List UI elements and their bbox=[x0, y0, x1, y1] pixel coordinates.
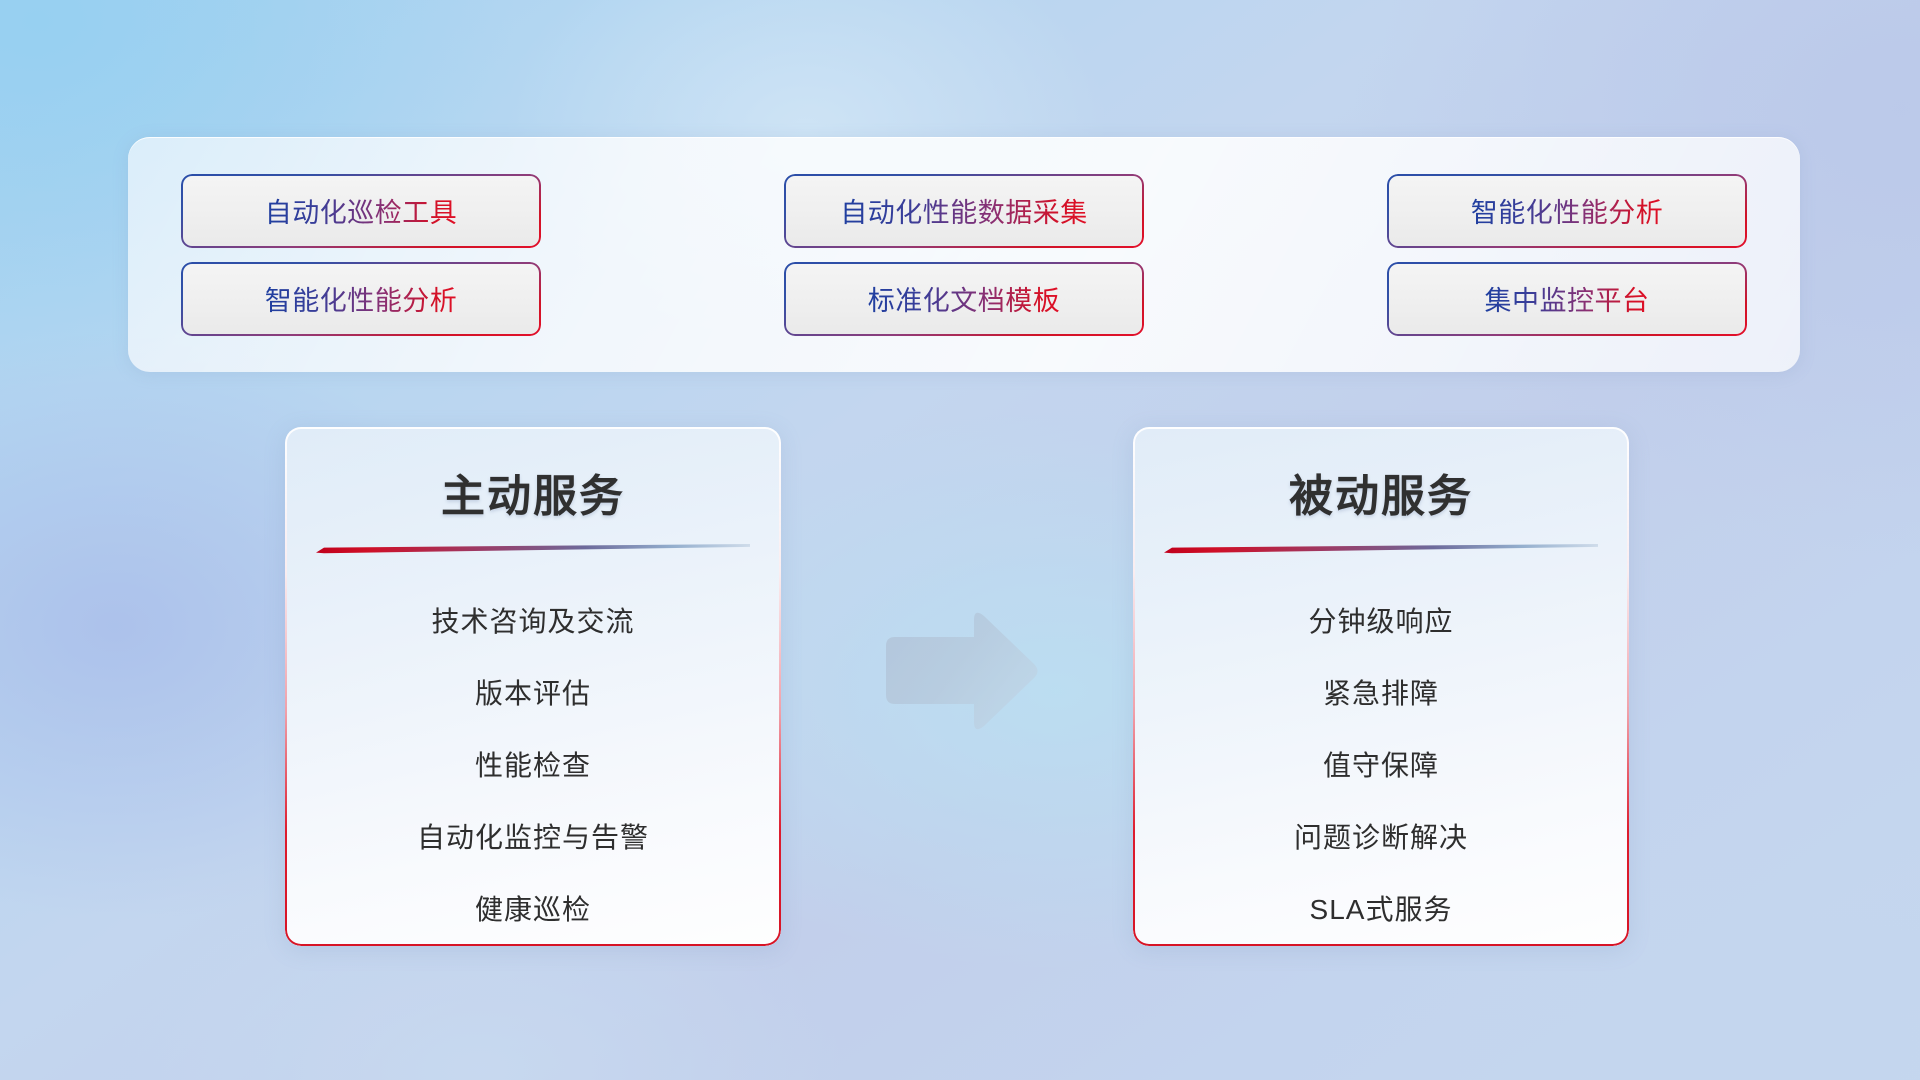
capabilities-row-1: 自动化巡检工具 自动化性能数据采集 智能化性能分析 bbox=[183, 176, 1745, 246]
capability-pill-standardized-doc-template[interactable]: 标准化文档模板 bbox=[786, 264, 1142, 334]
capabilities-row-2: 智能化性能分析 标准化文档模板 集中监控平台 bbox=[183, 264, 1745, 334]
capability-pill-label: 集中监控平台 bbox=[1485, 279, 1650, 318]
capabilities-panel: 自动化巡检工具 自动化性能数据采集 智能化性能分析 智能化性能分析 标准化文档模… bbox=[128, 137, 1800, 372]
capability-pill-centralized-monitoring-platform[interactable]: 集中监控平台 bbox=[1389, 264, 1745, 334]
card-item: 紧急排障 bbox=[1323, 658, 1439, 730]
card-item: 健康巡检 bbox=[475, 874, 591, 946]
capability-pill-label: 智能化性能分析 bbox=[265, 279, 458, 318]
card-item-list-active: 技术咨询及交流 版本评估 性能检查 自动化监控与告警 健康巡检 bbox=[285, 574, 781, 946]
card-item-list-passive: 分钟级响应 紧急排障 值守保障 问题诊断解决 SLA式服务 bbox=[1133, 574, 1629, 946]
capability-pill-label: 自动化巡检工具 bbox=[265, 191, 458, 230]
capability-pill-label: 自动化性能数据采集 bbox=[840, 191, 1088, 230]
capability-pill-automated-performance-data-collection[interactable]: 自动化性能数据采集 bbox=[786, 176, 1142, 246]
capability-pill-intelligent-performance-analysis-1[interactable]: 智能化性能分析 bbox=[1389, 176, 1745, 246]
service-card-passive: 被动服务 分钟级响应 紧急排障 值守保障 问题诊断解决 SLA式服务 bbox=[1133, 427, 1629, 946]
capability-pill-label: 智能化性能分析 bbox=[1471, 191, 1664, 230]
card-item: 版本评估 bbox=[475, 658, 591, 730]
card-item: 性能检查 bbox=[475, 730, 591, 802]
card-item: 自动化监控与告警 bbox=[417, 802, 649, 874]
capability-pill-automated-inspection-tool[interactable]: 自动化巡检工具 bbox=[183, 176, 539, 246]
capability-pill-label: 标准化文档模板 bbox=[868, 279, 1061, 318]
card-item: 问题诊断解决 bbox=[1294, 802, 1468, 874]
arrow-right-icon bbox=[878, 608, 1044, 734]
card-divider-passive bbox=[1164, 544, 1598, 554]
card-item: 技术咨询及交流 bbox=[431, 586, 634, 658]
card-item: SLA式服务 bbox=[1310, 874, 1453, 946]
card-item: 值守保障 bbox=[1323, 730, 1439, 802]
capability-pill-intelligent-performance-analysis-2[interactable]: 智能化性能分析 bbox=[183, 264, 539, 334]
service-card-active: 主动服务 技术咨询及交流 版本评估 性能检查 自动化监控与告警 健康巡检 bbox=[285, 427, 781, 946]
card-title: 被动服务 bbox=[1289, 460, 1473, 524]
card-divider-active bbox=[316, 544, 750, 554]
card-title: 主动服务 bbox=[441, 460, 625, 524]
card-item: 分钟级响应 bbox=[1308, 586, 1453, 658]
